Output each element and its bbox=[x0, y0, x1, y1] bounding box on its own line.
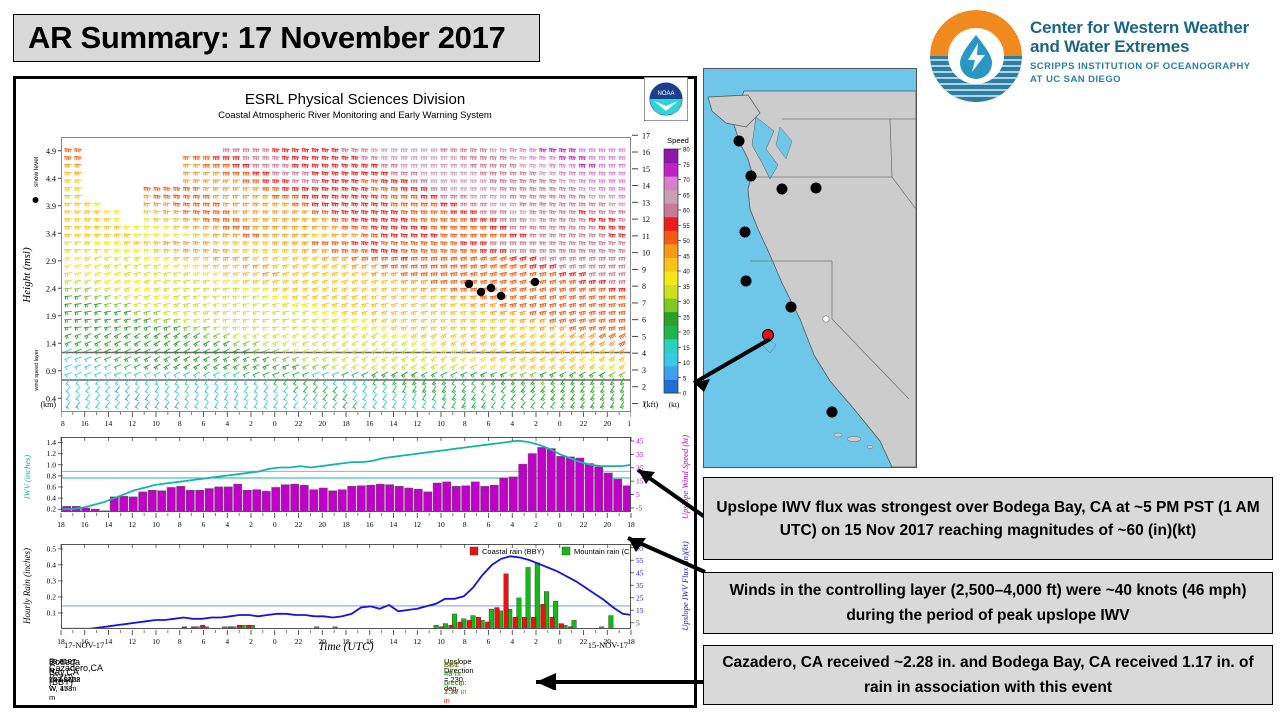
svg-text:45: 45 bbox=[683, 254, 690, 260]
cw3e-logo-sub2: AT UC SAN DIEGO bbox=[1030, 74, 1275, 86]
svg-text:4.4: 4.4 bbox=[46, 174, 56, 183]
svg-text:1.4: 1.4 bbox=[46, 339, 56, 348]
callout-iwv-flux-text: Upslope IWV flux was strongest over Bode… bbox=[712, 496, 1264, 542]
svg-text:15: 15 bbox=[683, 346, 690, 352]
svg-text:2.9: 2.9 bbox=[46, 257, 56, 266]
svg-text:65: 65 bbox=[683, 193, 690, 199]
svg-text:0: 0 bbox=[683, 392, 687, 398]
wind-panel-xaxis: 1816141210864202220181614121086420222018 bbox=[61, 412, 631, 430]
callout-winds: Winds in the controlling layer (2,500–4,… bbox=[703, 572, 1273, 634]
noaa-logo-icon: NOAA bbox=[644, 77, 688, 121]
date-left-label: 17-NOV-17 bbox=[64, 640, 104, 650]
cw3e-logo-line1: Center for Western Weather bbox=[1030, 18, 1275, 37]
callout-precip-text: Cazadero, CA received ~2.28 in. and Bode… bbox=[712, 650, 1264, 700]
cw3e-logo-line2: and Water Extremes bbox=[1030, 37, 1275, 56]
svg-text:2: 2 bbox=[642, 383, 646, 392]
svg-text:3: 3 bbox=[642, 366, 646, 375]
svg-text:13: 13 bbox=[642, 198, 650, 207]
svg-text:8: 8 bbox=[642, 282, 646, 291]
cw3e-logo-text: Center for Western Weather and Water Ext… bbox=[1030, 18, 1275, 86]
snow-level-marker-icon bbox=[33, 197, 39, 203]
svg-text:14: 14 bbox=[642, 182, 650, 191]
svg-text:0.9: 0.9 bbox=[46, 367, 56, 376]
svg-text:55: 55 bbox=[683, 224, 690, 230]
svg-text:7: 7 bbox=[642, 299, 646, 308]
svg-text:50: 50 bbox=[683, 239, 690, 245]
station-1-coords: 38.6107 N, 123.2152 W, 478 m bbox=[49, 657, 80, 702]
svg-text:25: 25 bbox=[683, 315, 690, 321]
svg-text:10: 10 bbox=[683, 361, 690, 367]
note-czc-precip: CZC 48-hr precip: 2.28 in bbox=[444, 660, 467, 696]
svg-text:1.9: 1.9 bbox=[46, 312, 56, 321]
svg-text:15: 15 bbox=[642, 165, 650, 174]
svg-text:75: 75 bbox=[683, 163, 690, 169]
wind-speed-layer-label: wind speed layer bbox=[34, 349, 40, 391]
callout-precip: Cazadero, CA received ~2.28 in. and Bode… bbox=[703, 645, 1273, 705]
colorbar-unit: (kt) bbox=[669, 400, 680, 409]
svg-text:11: 11 bbox=[642, 232, 650, 241]
svg-text:35: 35 bbox=[683, 285, 690, 291]
svg-text:5: 5 bbox=[642, 332, 646, 341]
cw3e-logo-sub1: SCRIPPS INSTITUTION OF OCEANOGRAPHY bbox=[1030, 61, 1275, 73]
svg-text:80: 80 bbox=[683, 148, 690, 154]
plot-subheading: Coastal Atmospheric River Monitoring and… bbox=[16, 110, 694, 121]
callout-iwv-flux: Upslope IWV flux was strongest over Bode… bbox=[703, 477, 1273, 560]
svg-text:3.9: 3.9 bbox=[46, 202, 56, 211]
svg-text:3.4: 3.4 bbox=[46, 229, 56, 238]
svg-text:17: 17 bbox=[642, 131, 650, 140]
callout-winds-text: Winds in the controlling layer (2,500–4,… bbox=[712, 578, 1264, 628]
svg-text:2.4: 2.4 bbox=[46, 284, 56, 293]
svg-text:5: 5 bbox=[683, 376, 687, 382]
svg-text:4.9: 4.9 bbox=[46, 147, 56, 156]
iwv-axis-label: IWV (inches) bbox=[22, 455, 32, 501]
height-axis-label: Height (msl) bbox=[21, 247, 33, 304]
svg-text:10: 10 bbox=[642, 249, 650, 258]
map-highlight-marker bbox=[763, 330, 774, 341]
rain-panel-axes: Hourly Rain (inches) 0.10.20.30.40.5 515… bbox=[16, 536, 700, 661]
svg-text:16: 16 bbox=[642, 148, 650, 157]
svg-text:4: 4 bbox=[642, 349, 646, 358]
svg-text:12: 12 bbox=[642, 215, 650, 224]
esrl-plot-panel: ESRL Physical Sciences Division Coastal … bbox=[13, 76, 697, 708]
iwv-panel-axes: IWV (inches) 0.20.40.60.81.01.21.4 -5515… bbox=[16, 429, 700, 539]
cw3e-logo: Center for Western Weather and Water Ext… bbox=[930, 8, 1275, 108]
rain-right-axis-label: Upslope IWV Flux (in)(kt) bbox=[680, 541, 690, 630]
date-right-label: 15-NOV-17 bbox=[588, 640, 628, 650]
snow-level-legend-label: snow level bbox=[33, 156, 40, 187]
slide-title-box: AR Summary: 17 November 2017 bbox=[13, 14, 540, 62]
svg-text:60: 60 bbox=[683, 209, 690, 215]
svg-text:30: 30 bbox=[683, 300, 690, 306]
svg-text:20: 20 bbox=[683, 331, 690, 337]
time-axis-label: Time (UTC) bbox=[318, 641, 373, 653]
iwv-right-axis-label: Upslope Wind Speed (kt) bbox=[680, 435, 690, 519]
svg-text:70: 70 bbox=[683, 178, 690, 184]
svg-text:0.4: 0.4 bbox=[46, 394, 56, 403]
svg-text:40: 40 bbox=[683, 270, 690, 276]
svg-text:9: 9 bbox=[642, 265, 646, 274]
svg-text:NOAA: NOAA bbox=[657, 91, 674, 97]
page-title: AR Summary: 17 November 2017 bbox=[28, 20, 506, 56]
height-unit-right-label: (kft) bbox=[644, 400, 659, 409]
rain-axis-label: Hourly Rain (inches) bbox=[22, 548, 32, 625]
colorbar-title: Speed bbox=[667, 136, 689, 145]
plot-heading: ESRL Physical Sciences Division bbox=[16, 91, 694, 108]
west-coast-station-map bbox=[703, 68, 917, 468]
wind-profiler-plot bbox=[61, 137, 631, 412]
cw3e-logo-mark bbox=[930, 10, 1022, 102]
svg-text:6: 6 bbox=[642, 316, 646, 325]
